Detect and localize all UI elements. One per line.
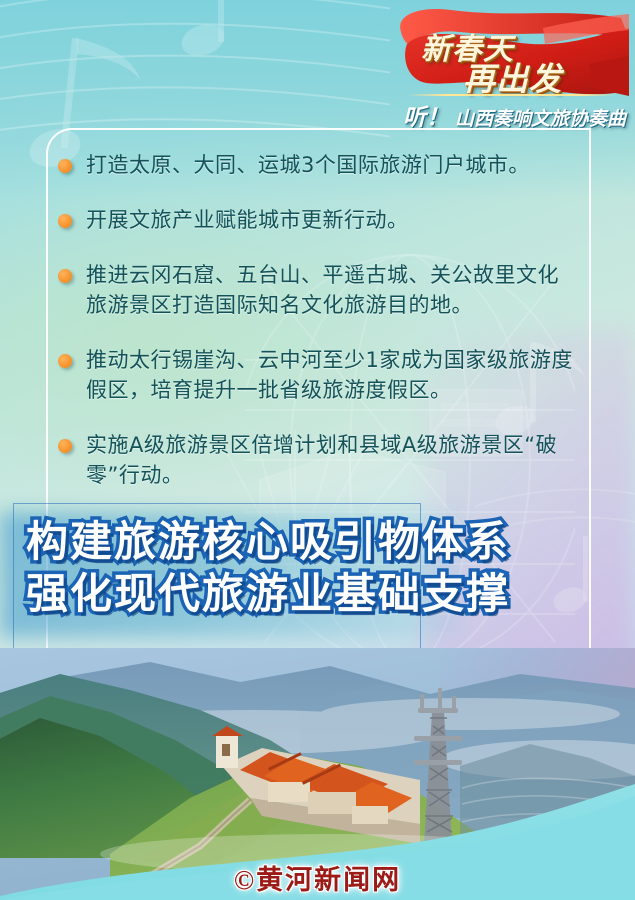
bullet-dot-icon bbox=[58, 269, 72, 283]
badge-divider bbox=[407, 94, 617, 96]
list-item: 开展文旅产业赋能城市更新行动。 bbox=[58, 205, 578, 235]
headline-line-1: 构建旅游核心吸引物体系 bbox=[26, 516, 626, 568]
poster-root: 新春天 再出发 听！山西奏响文旅协奏曲 打造太原、大同、运城3个国际旅游门户城市… bbox=[0, 0, 635, 900]
headline-line-2: 强化现代旅游业基础支撑 bbox=[26, 568, 626, 620]
list-item-text: 推进云冈石窟、五台山、平遥古城、关公故里文化旅游景区打造国际知名文化旅游目的地。 bbox=[86, 260, 578, 320]
list-item-text: 开展文旅产业赋能城市更新行动。 bbox=[86, 205, 409, 235]
list-item: 打造太原、大同、运城3个国际旅游门户城市。 bbox=[58, 150, 578, 180]
list-item: 推动太行锡崖沟、云中河至少1家成为国家级旅游度假区，培育提升一批省级旅游度假区。 bbox=[58, 345, 578, 405]
badge-subtitle-text: 山西奏响文旅协奏曲 bbox=[455, 108, 626, 130]
site-watermark: ©黄河新闻网 bbox=[234, 858, 401, 897]
badge-subtitle: 听！山西奏响文旅协奏曲 bbox=[403, 98, 625, 132]
list-item-text: 推动太行锡崖沟、云中河至少1家成为国家级旅游度假区，培育提升一批省级旅游度假区。 bbox=[86, 345, 578, 405]
policy-bullet-list: 打造太原、大同、运城3个国际旅游门户城市。 开展文旅产业赋能城市更新行动。 推进… bbox=[58, 150, 578, 515]
bullet-dot-icon bbox=[58, 159, 72, 173]
bullet-dot-icon bbox=[58, 354, 72, 368]
bullet-dot-icon bbox=[58, 214, 72, 228]
headline-block: 构建旅游核心吸引物体系 强化现代旅游业基础支撑 bbox=[26, 516, 626, 620]
header-badge: 新春天 再出发 听！山西奏响文旅协奏曲 bbox=[393, 4, 629, 128]
list-item: 实施A级旅游景区倍增计划和县域A级旅游景区“破零”行动。 bbox=[58, 430, 578, 490]
list-item-text: 实施A级旅游景区倍增计划和县域A级旅游景区“破零”行动。 bbox=[86, 430, 578, 490]
footer: ©黄河新闻网 bbox=[0, 858, 635, 897]
list-item: 推进云冈石窟、五台山、平遥古城、关公故里文化旅游景区打造国际知名文化旅游目的地。 bbox=[58, 260, 578, 320]
list-item-text: 打造太原、大同、运城3个国际旅游门户城市。 bbox=[86, 150, 530, 180]
bullet-dot-icon bbox=[58, 439, 72, 453]
